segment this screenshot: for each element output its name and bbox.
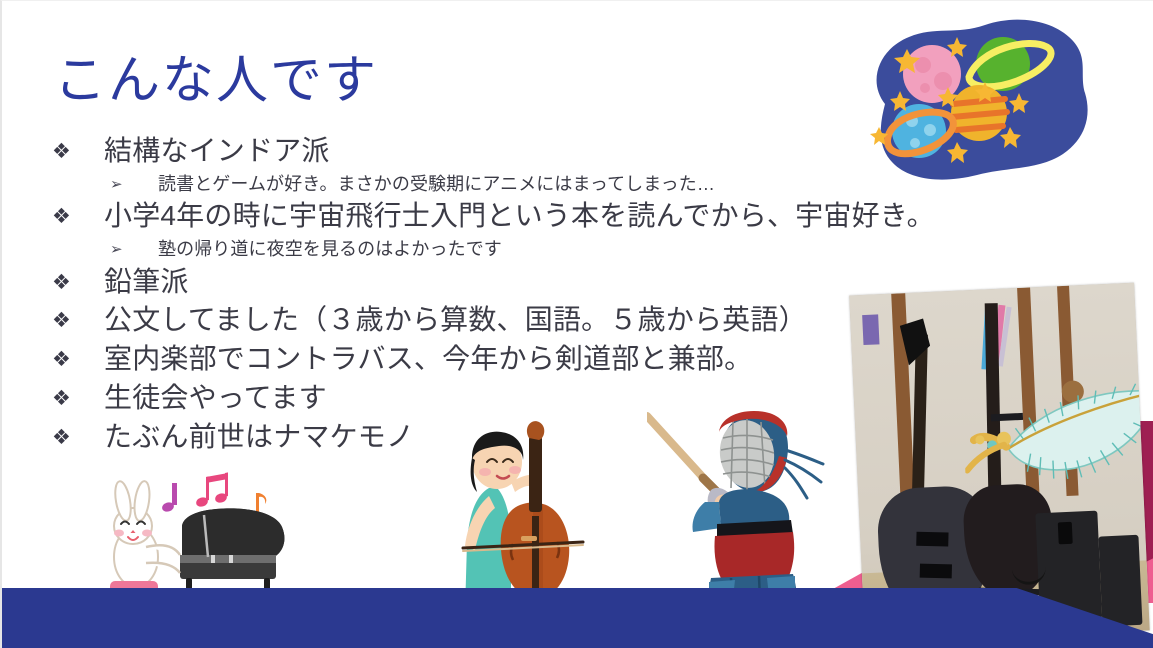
list-item: ❖ 室内楽部でコントラバス、今年から剣道部と兼部。 — [52, 341, 982, 378]
bullet-list: ❖ 結構なインドア派 ➢ 読書とゲームが好き。まさかの受験期にアニメにはまってし… — [52, 133, 982, 458]
diamond-bullet-icon: ❖ — [52, 302, 104, 331]
list-item: ➢ 塾の帰り道に夜空を見るのはよかったです — [52, 237, 982, 261]
diamond-bullet-icon: ❖ — [52, 198, 104, 227]
list-item: ➢ 読書とゲームが好き。まさかの受験期にアニメにはまってしまった… — [52, 172, 982, 196]
list-item: ❖ 公文してました（３歳から算数、国語。５歳から英語） — [52, 302, 982, 339]
feather-decoration — [961, 374, 1149, 493]
bottom-navy-band — [2, 588, 1153, 648]
amp-handle — [1058, 522, 1073, 545]
diamond-bullet-icon: ❖ — [52, 264, 104, 293]
arrow-bullet-icon: ➢ — [110, 237, 158, 257]
list-item-label: 生徒会やってます — [104, 380, 982, 417]
amplifier — [1098, 535, 1142, 627]
page-title: こんな人です — [54, 53, 378, 110]
list-item: ❖ 小学4年の時に宇宙飛行士入門という本を読んでから、宇宙好き。 — [52, 198, 982, 235]
list-item-label: 小学4年の時に宇宙飛行士入門という本を読んでから、宇宙好き。 — [104, 198, 982, 235]
list-item-label: 塾の帰り道に夜空を見るのはよかったです — [158, 237, 982, 261]
guitar-pickup — [916, 532, 948, 547]
diamond-bullet-icon: ❖ — [52, 341, 104, 370]
wall-item — [862, 314, 879, 345]
diamond-bullet-icon: ❖ — [52, 419, 104, 448]
diamond-bullet-icon: ❖ — [52, 133, 104, 162]
list-item: ❖ 結構なインドア派 — [52, 133, 982, 170]
guitar-pickup — [920, 564, 952, 579]
arrow-bullet-icon: ➢ — [110, 172, 158, 192]
list-item-label: 結構なインドア派 — [104, 133, 982, 170]
list-item: ❖ 鉛筆派 — [52, 264, 982, 301]
list-item-label: 室内楽部でコントラバス、今年から剣道部と兼部。 — [104, 341, 982, 378]
space-planets-illustration — [857, 9, 1102, 184]
slide-canvas: こんな人です ❖ 結構なインドア派 ➢ 読書とゲームが好き。まさかの受験期にアニ… — [0, 0, 1153, 648]
list-item: ❖ 生徒会やってます — [52, 380, 982, 417]
diamond-bullet-icon: ❖ — [52, 380, 104, 409]
